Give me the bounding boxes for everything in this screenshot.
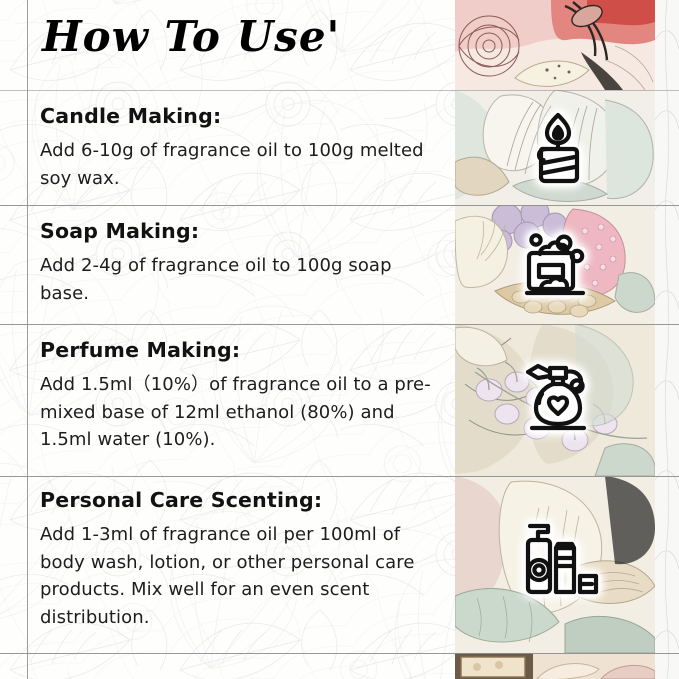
- section-perfume-making: Perfume Making: Add 1.5ml（10%）of fragran…: [40, 338, 440, 454]
- page-title: How To Use': [42, 12, 340, 61]
- right-edge-strip: [655, 0, 679, 679]
- divider-soap-perfume: [0, 324, 679, 325]
- section-heading: Soap Making:: [40, 219, 440, 243]
- perfume-bottle-icon: [510, 348, 606, 444]
- left-margin-rule: [27, 0, 28, 679]
- section-personal-care-scenting: Personal Care Scenting: Add 1-3ml of fra…: [40, 488, 440, 631]
- section-body: Add 1-3ml of fragrance oil per 100ml of …: [40, 521, 440, 631]
- section-heading: Candle Making:: [40, 104, 440, 128]
- divider-title: [0, 90, 679, 91]
- soap-bar-icon: [510, 218, 606, 314]
- section-body: Add 1.5ml（10%）of fragrance oil to a pre-…: [40, 371, 440, 454]
- candle-icon: [510, 100, 606, 196]
- divider-bottom: [0, 653, 679, 654]
- divider-perfume-personal: [0, 476, 679, 477]
- personal-care-products-icon: [510, 512, 606, 608]
- section-body: Add 6-10g of fragrance oil to 100g melte…: [40, 137, 440, 192]
- section-heading: Personal Care Scenting:: [40, 488, 440, 512]
- how-to-use-infographic: How To Use' Candle Making: Add 6-10g of …: [0, 0, 679, 679]
- illustration-band-roses: [455, 0, 655, 90]
- section-heading: Perfume Making:: [40, 338, 440, 362]
- section-soap-making: Soap Making: Add 2-4g of fragrance oil t…: [40, 219, 440, 307]
- section-body: Add 2-4g of fragrance oil to 100g soap b…: [40, 252, 440, 307]
- divider-candle-soap: [0, 205, 679, 206]
- section-candle-making: Candle Making: Add 6-10g of fragrance oi…: [40, 104, 440, 192]
- illustration-band-bottom: [455, 653, 655, 679]
